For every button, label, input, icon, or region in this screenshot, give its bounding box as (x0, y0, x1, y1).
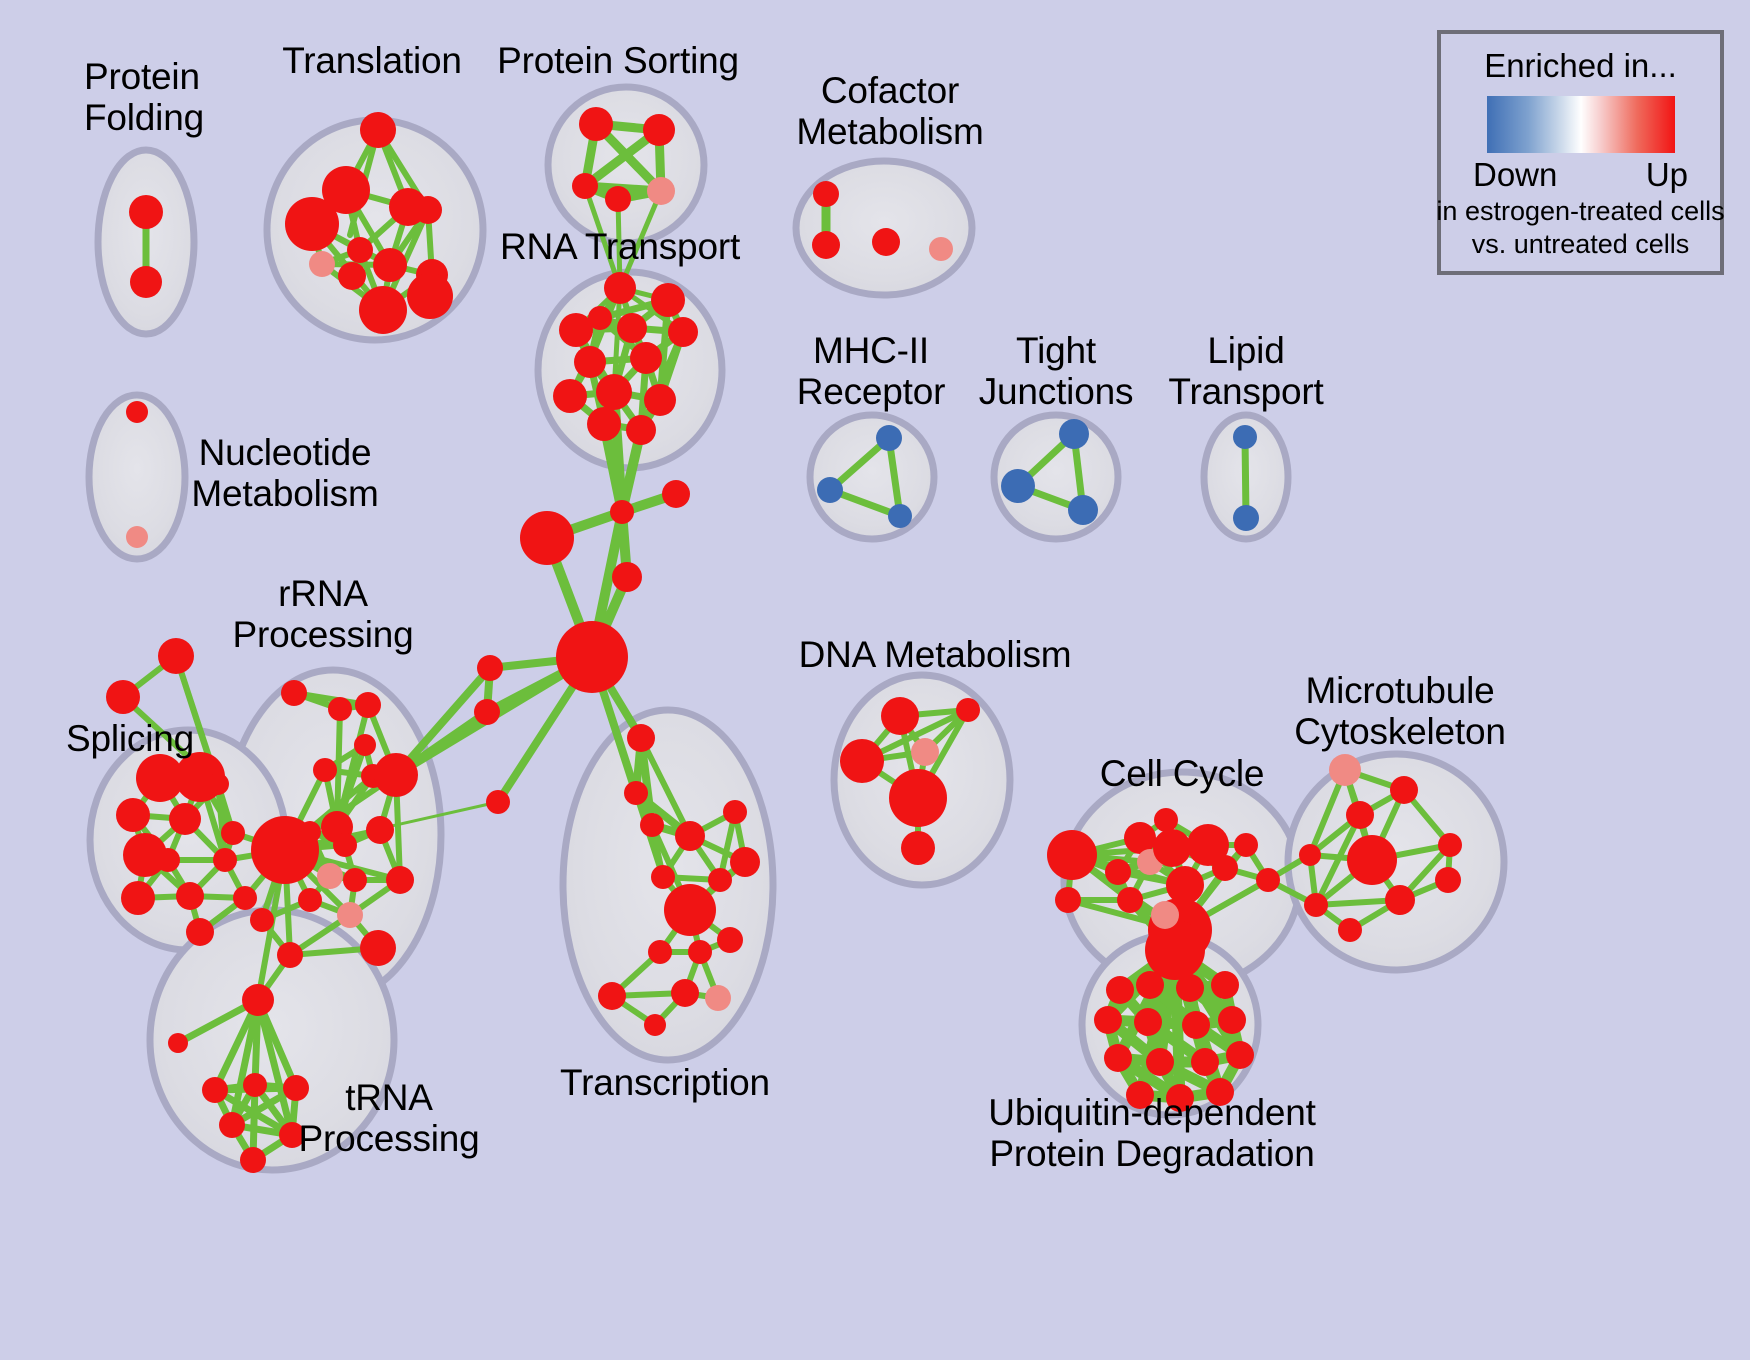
node (579, 107, 613, 141)
node (662, 480, 690, 508)
node (219, 1112, 245, 1138)
cluster-label-transcription: Transcription (560, 1062, 770, 1103)
cluster-label-splicing: Splicing (66, 718, 194, 759)
node (338, 262, 366, 290)
node (1438, 833, 1462, 857)
node (309, 251, 335, 277)
node (250, 908, 274, 932)
node (313, 758, 337, 782)
node (881, 697, 919, 735)
legend-box: Enriched in... Down Up in estrogen-treat… (1437, 30, 1724, 275)
node (1153, 829, 1191, 867)
node (106, 680, 140, 714)
node (354, 734, 376, 756)
cluster-label-ubiquitin-degradation: Ubiquitin-dependent Protein Degradation (988, 1092, 1315, 1175)
cluster-label-rrna-processing: rRNA Processing (232, 573, 413, 656)
legend-high-label: Up (1646, 156, 1688, 194)
node (360, 112, 396, 148)
node (640, 813, 664, 837)
hull-protein-sorting (548, 87, 704, 243)
node (1182, 1011, 1210, 1039)
node (474, 699, 500, 725)
cluster-label-translation: Translation (282, 40, 461, 81)
node (688, 940, 712, 964)
node (298, 888, 322, 912)
node (648, 940, 672, 964)
node (156, 848, 180, 872)
node (647, 177, 675, 205)
node (1346, 801, 1374, 829)
node (587, 407, 621, 441)
legend-title: Enriched in... (1484, 47, 1677, 85)
node (1233, 505, 1259, 531)
node (126, 526, 148, 548)
node (888, 504, 912, 528)
node (610, 500, 634, 524)
node (299, 821, 321, 843)
node (643, 114, 675, 146)
node (337, 902, 363, 928)
node (840, 739, 884, 783)
node (1191, 1048, 1219, 1076)
node (817, 477, 843, 503)
node (129, 195, 163, 229)
node (889, 769, 947, 827)
node (651, 865, 675, 889)
node (1059, 419, 1089, 449)
cluster-label-rna-transport: RNA Transport (500, 226, 740, 267)
node (1390, 776, 1418, 804)
node (624, 781, 648, 805)
node (911, 738, 939, 766)
node (588, 306, 612, 330)
node (116, 798, 150, 832)
node (598, 982, 626, 1010)
node (1385, 885, 1415, 915)
cluster-label-lipid-transport: Lipid Transport (1168, 330, 1323, 413)
node (1338, 918, 1362, 942)
node (1105, 859, 1131, 885)
node (1154, 808, 1178, 832)
cluster-label-nucleotide-metabolism: Nucleotide Metabolism (191, 432, 378, 515)
cluster-label-mhc-ii-receptor: MHC-II Receptor (797, 330, 946, 413)
legend-caption-line1: in estrogen-treated cells (1436, 196, 1724, 227)
node (1304, 893, 1328, 917)
legend-caption-line2: vs. untreated cells (1472, 229, 1690, 260)
node (717, 927, 743, 953)
cluster-label-protein-folding: Protein Folding (84, 56, 204, 139)
node (644, 1014, 666, 1036)
node (664, 884, 716, 936)
node (1234, 833, 1258, 857)
node (812, 231, 840, 259)
node (285, 197, 339, 251)
node (668, 317, 698, 347)
cluster-label-cofactor-metabolism: Cofactor Metabolism (796, 70, 983, 153)
legend-endpoint-labels: Down Up (1473, 156, 1688, 194)
node (1136, 971, 1164, 999)
node (1146, 1048, 1174, 1076)
node (1218, 1006, 1246, 1034)
node (1329, 754, 1361, 786)
node (158, 638, 194, 674)
node (1047, 830, 1097, 880)
node (596, 374, 632, 410)
node (317, 863, 343, 889)
node (207, 773, 229, 795)
node (872, 228, 900, 256)
node (574, 346, 606, 378)
node (1094, 1006, 1122, 1034)
node (343, 868, 367, 892)
node (604, 272, 636, 304)
node (556, 621, 628, 693)
node (355, 692, 381, 718)
node (176, 882, 204, 910)
node (813, 181, 839, 207)
node (553, 379, 587, 413)
node (386, 866, 414, 894)
node (651, 283, 685, 317)
node (1117, 887, 1143, 913)
node (373, 248, 407, 282)
node (414, 196, 442, 224)
node (121, 881, 155, 915)
cluster-label-trna-processing: tRNA Processing (298, 1077, 479, 1160)
node (359, 286, 407, 334)
node (1106, 976, 1134, 1004)
node (281, 680, 307, 706)
node (277, 942, 303, 968)
node (374, 753, 418, 797)
node (671, 979, 699, 1007)
node (1233, 425, 1257, 449)
node (347, 237, 373, 263)
node (243, 1073, 267, 1097)
node (169, 803, 201, 835)
node (221, 821, 245, 845)
node (486, 790, 510, 814)
node (627, 724, 655, 752)
legend-color-gradient-bar (1487, 96, 1675, 153)
node (626, 415, 656, 445)
node (1166, 866, 1204, 904)
node (168, 1033, 188, 1053)
node (1068, 495, 1098, 525)
node (1134, 1008, 1162, 1036)
cluster-label-protein-sorting: Protein Sorting (497, 40, 739, 81)
node (1055, 887, 1081, 913)
node (617, 313, 647, 343)
cluster-label-cell-cycle: Cell Cycle (1100, 753, 1265, 794)
cluster-label-microtubule-cytoskeleton: Microtubule Cytoskeleton (1294, 670, 1506, 753)
node (876, 425, 902, 451)
node (1211, 971, 1239, 999)
node (1104, 1044, 1132, 1072)
cluster-label-tight-junctions: Tight Junctions (979, 330, 1134, 413)
node (520, 511, 574, 565)
node (708, 868, 732, 892)
node (1145, 920, 1205, 980)
node (366, 816, 394, 844)
node (242, 984, 274, 1016)
node (1256, 868, 1280, 892)
node (1299, 844, 1321, 866)
node (1226, 1041, 1254, 1069)
node (186, 918, 214, 946)
node (333, 833, 357, 857)
node (630, 342, 662, 374)
node (675, 821, 705, 851)
node (956, 698, 980, 722)
node (407, 273, 453, 319)
node (901, 831, 935, 865)
node (929, 237, 953, 261)
hull-mhcii (810, 415, 934, 539)
node (213, 848, 237, 872)
node (705, 985, 731, 1011)
node (605, 186, 631, 212)
cluster-label-dna-metabolism: DNA Metabolism (799, 634, 1072, 675)
node (477, 655, 503, 681)
node (1001, 469, 1035, 503)
node (1347, 835, 1397, 885)
node (644, 384, 676, 416)
enrichment-map-figure: Protein Folding Translation Protein Sort… (0, 0, 1750, 1360)
node (1435, 867, 1461, 893)
node (126, 401, 148, 423)
node (612, 562, 642, 592)
node (328, 697, 352, 721)
node (572, 173, 598, 199)
node (130, 266, 162, 298)
node (360, 930, 396, 966)
node (1212, 855, 1238, 881)
node (1151, 901, 1179, 929)
node (240, 1147, 266, 1173)
node (559, 313, 593, 347)
node (723, 800, 747, 824)
legend-low-label: Down (1473, 156, 1557, 194)
node (1176, 974, 1204, 1002)
node (730, 847, 760, 877)
node (233, 886, 257, 910)
node (202, 1077, 228, 1103)
